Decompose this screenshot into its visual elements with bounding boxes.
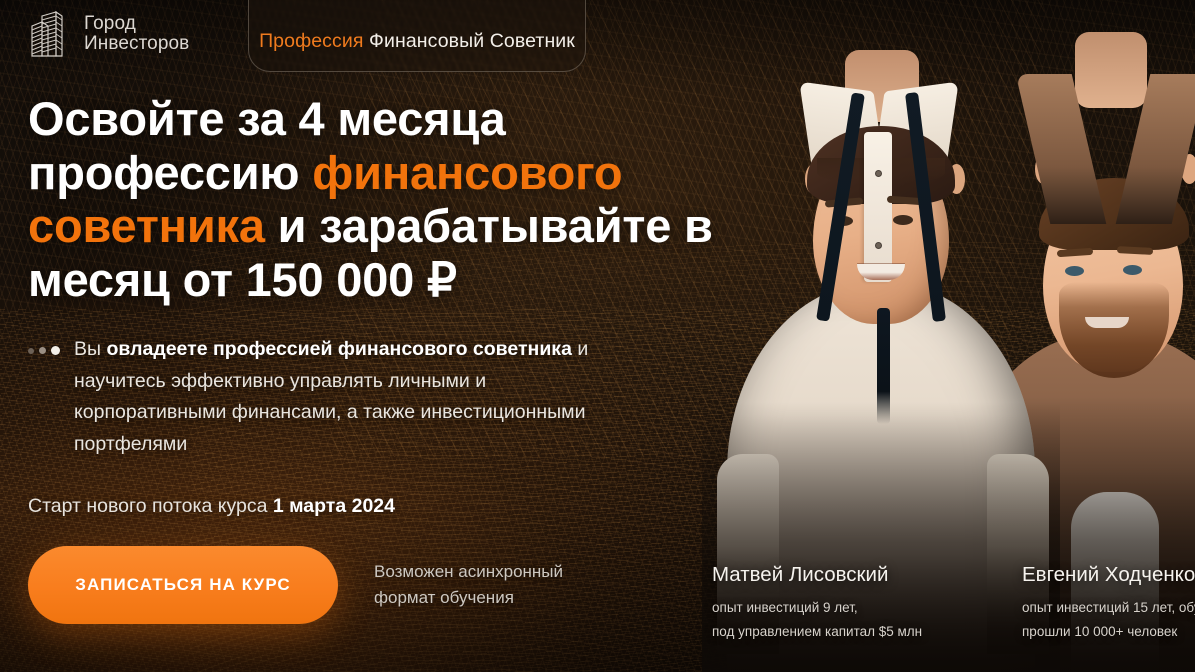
hero-bullet: Вы овладеете профессией финансового сове…	[28, 334, 720, 460]
course-badge[interactable]: Профессия Финансовый Советник	[248, 0, 586, 72]
course-start-prefix: Старт нового потока курса	[28, 495, 273, 517]
brand-name-line2: Инвесторов	[84, 33, 189, 54]
three-dots-icon	[28, 334, 60, 355]
course-badge-text: Профессия Финансовый Советник	[259, 30, 575, 53]
hero-bullet-text: Вы овладеете профессией финансового сове…	[74, 334, 619, 460]
course-start-date: 1 марта 2024	[273, 495, 395, 517]
course-badge-title: Финансовый Советник	[369, 30, 575, 52]
course-start-line: Старт нового потока курса 1 марта 2024	[28, 495, 720, 518]
bullet-bold: овладеете профессией финансового советни…	[106, 338, 571, 360]
instructor-line-2: под управлением капитал $5 млн	[712, 620, 922, 644]
hero-content: Освойте за 4 месяца профессию финансовог…	[0, 0, 720, 624]
brand-name-line1: Город	[84, 13, 136, 34]
bullet-prefix: Вы	[74, 338, 106, 360]
instructor-name: Евгений Ходченков	[1022, 563, 1195, 587]
instructor-line-2: прошли 10 000+ человек	[1022, 620, 1195, 644]
brand-logo[interactable]: ГородИнвесторов	[26, 10, 189, 58]
instructor-caption-matvey: Матвей Лисовский опыт инвестиций 9 лет, …	[712, 563, 922, 644]
instructor-captions: Матвей Лисовский опыт инвестиций 9 лет, …	[0, 532, 1195, 672]
instructor-line-1: опыт инвестиций 15 лет, обуч	[1022, 596, 1195, 620]
page-header: ГородИнвесторов Профессия Финансовый Сов…	[0, 0, 1195, 72]
brand-name: ГородИнвесторов	[84, 14, 189, 54]
page-title: Освойте за 4 месяца профессию финансовог…	[28, 92, 720, 306]
hero-landing-page: ГородИнвесторов Профессия Финансовый Сов…	[0, 0, 1195, 672]
instructor-line-1: опыт инвестиций 9 лет,	[712, 596, 922, 620]
buildings-icon	[26, 10, 72, 58]
instructor-caption-evgeniy: Евгений Ходченков опыт инвестиций 15 лет…	[1022, 563, 1195, 644]
instructor-name: Матвей Лисовский	[712, 563, 922, 587]
course-badge-prefix: Профессия	[259, 30, 363, 52]
